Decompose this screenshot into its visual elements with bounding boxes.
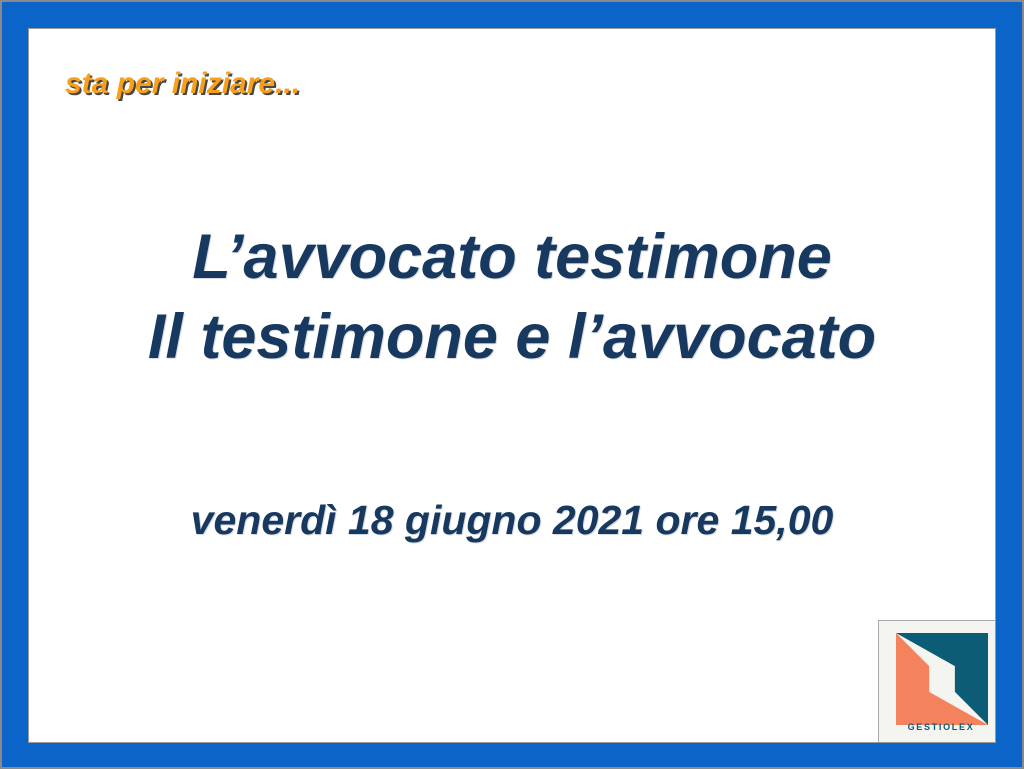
kicker-text: sta per iniziare... (65, 67, 300, 101)
logo-wordmark: GESTIOLEX (879, 722, 996, 732)
gestiolex-logo-icon (896, 633, 988, 725)
title-line-1: L’avvocato testimone (29, 217, 995, 297)
title-line-2: Il testimone e l’avvocato (29, 297, 995, 377)
title-block: L’avvocato testimone Il testimone e l’av… (29, 217, 995, 377)
slide-canvas: sta per iniziare... L’avvocato testimone… (28, 28, 996, 743)
event-date-time: venerdì 18 giugno 2021 ore 15,00 (29, 497, 995, 544)
logo-panel: GESTIOLEX (878, 620, 996, 743)
slide-frame: sta per iniziare... L’avvocato testimone… (0, 0, 1024, 769)
